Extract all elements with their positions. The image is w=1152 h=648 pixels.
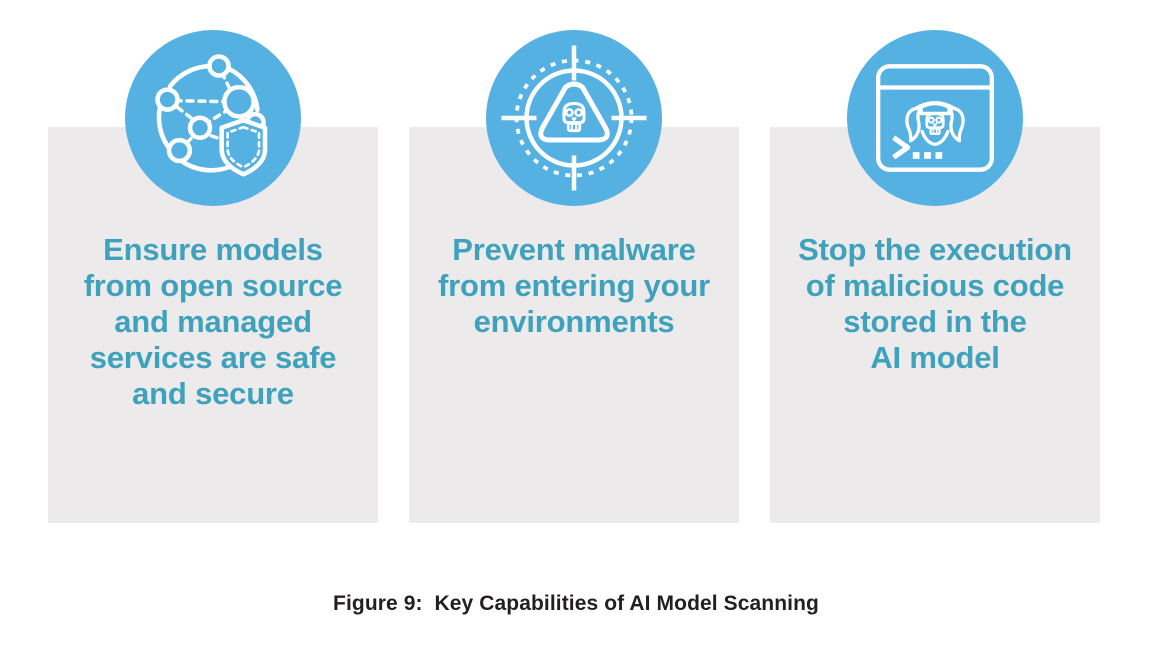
capability-card-malicious-code-execution[interactable]: Stop the execution of malicious code sto… <box>770 127 1100 523</box>
capability-card-model-provenance[interactable]: Ensure models from open source and manag… <box>48 127 378 523</box>
network-nodes-shield-icon <box>125 30 301 206</box>
capability-card-text: Prevent malware from entering your envir… <box>409 232 739 340</box>
terminal-window-malware-icon <box>847 30 1023 206</box>
figure-container: Ensure models from open source and manag… <box>0 0 1152 648</box>
capability-card-malware-prevention[interactable]: Prevent malware from entering your envir… <box>409 127 739 523</box>
capability-card-text: Stop the execution of malicious code sto… <box>770 232 1100 376</box>
capability-card-text: Ensure models from open source and manag… <box>48 232 378 412</box>
capability-cards-row: Ensure models from open source and manag… <box>48 127 1100 523</box>
crosshair-malware-warning-icon <box>486 30 662 206</box>
figure-caption: Figure 9: Key Capabilities of AI Model S… <box>0 592 1152 616</box>
